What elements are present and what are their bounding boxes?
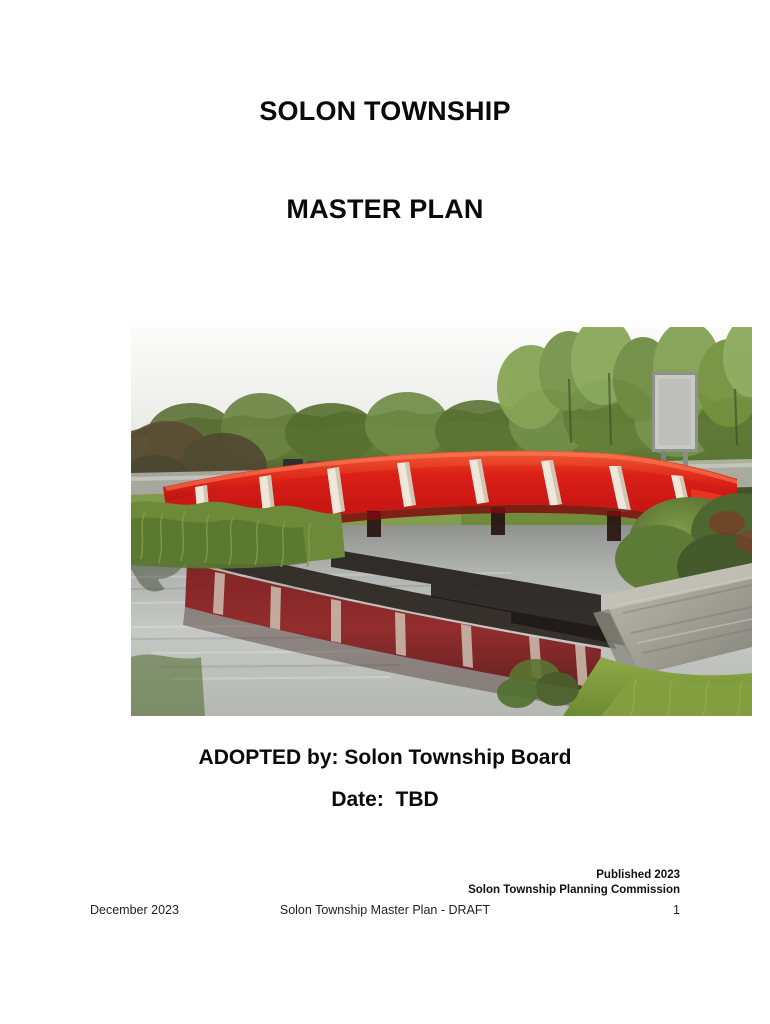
- footer-page-number: 1: [673, 903, 680, 917]
- page-title-line-1: SOLON TOWNSHIP: [0, 96, 770, 127]
- document-page: SOLON TOWNSHIP MASTER PLAN: [0, 0, 770, 1024]
- adopted-by-line: ADOPTED by: Solon Township Board: [0, 746, 770, 770]
- published-year: Published 2023: [596, 869, 680, 881]
- footer-document-title: Solon Township Master Plan - DRAFT: [90, 903, 680, 917]
- left-bank-grass: [131, 501, 345, 568]
- bridge-photo-illustration: [131, 327, 752, 716]
- cover-photo: [131, 327, 752, 716]
- adopted-date-line: Date: TBD: [0, 788, 770, 812]
- page-title-line-2: MASTER PLAN: [0, 194, 770, 225]
- page-footer: December 2023 Solon Township Master Plan…: [90, 903, 680, 921]
- published-organization: Solon Township Planning Commission: [468, 884, 680, 896]
